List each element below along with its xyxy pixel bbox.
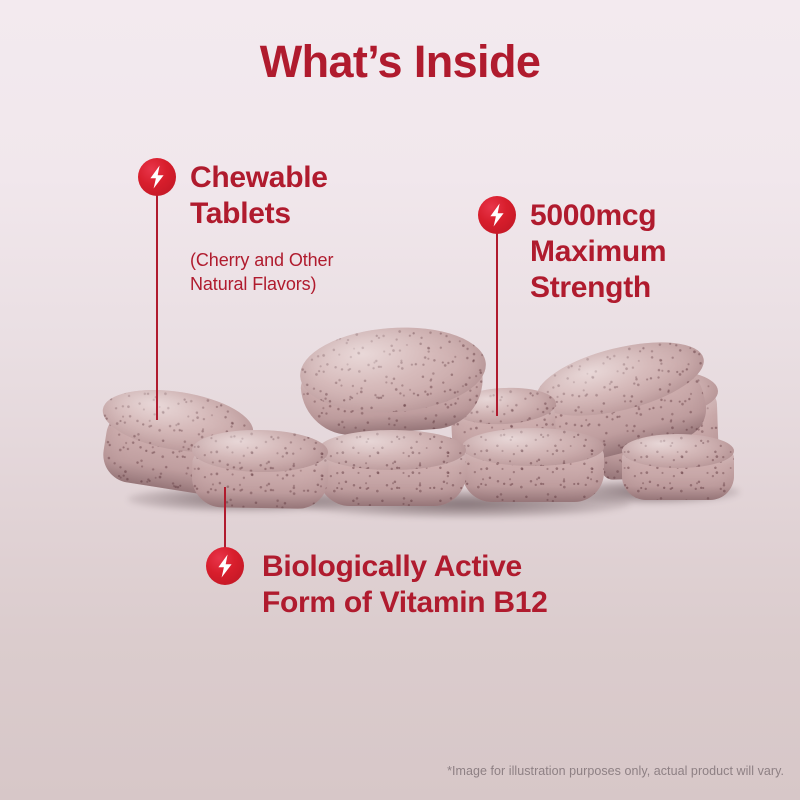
tablet [451, 385, 557, 426]
tablet [599, 390, 720, 480]
pile-shadow [128, 486, 368, 512]
tablet [297, 322, 488, 419]
product-tablet-pile [0, 0, 800, 800]
tablet [599, 368, 719, 418]
tablet [192, 451, 329, 509]
callout-heading-maximum-strength: 5000mcg Maximum Strength [530, 198, 666, 306]
tablet [529, 328, 711, 430]
tablet [450, 401, 557, 468]
leader-line-strength [496, 230, 498, 416]
tablet [622, 434, 734, 468]
tablet [462, 428, 604, 466]
tablet [300, 364, 486, 439]
pile-shadow [560, 480, 740, 504]
tablet [622, 450, 734, 500]
bolt-icon [206, 547, 244, 585]
callout-heading-chewable-tablets: Chewable Tablets [190, 160, 328, 232]
whats-inside-infographic: What’s Inside [0, 0, 800, 800]
bolt-icon [478, 196, 516, 234]
tablet [532, 359, 713, 471]
tablet [318, 430, 466, 470]
disclaimer-text: *Image for illustration purposes only, a… [447, 764, 784, 778]
callout-heading-biologically-active: Biologically Active Form of Vitamin B12 [262, 549, 547, 621]
tablet [99, 407, 256, 501]
tablet [192, 429, 329, 473]
pile-shadow [300, 490, 630, 518]
leader-line-chewable [156, 192, 158, 420]
tablet [462, 446, 604, 502]
bolt-icon [138, 158, 176, 196]
leader-line-biologically-active [224, 487, 226, 555]
page-title: What’s Inside [0, 36, 800, 88]
tablet [98, 380, 257, 461]
tablet [318, 450, 466, 506]
callout-subtext-chewable-tablets: (Cherry and Other Natural Flavors) [190, 248, 333, 296]
